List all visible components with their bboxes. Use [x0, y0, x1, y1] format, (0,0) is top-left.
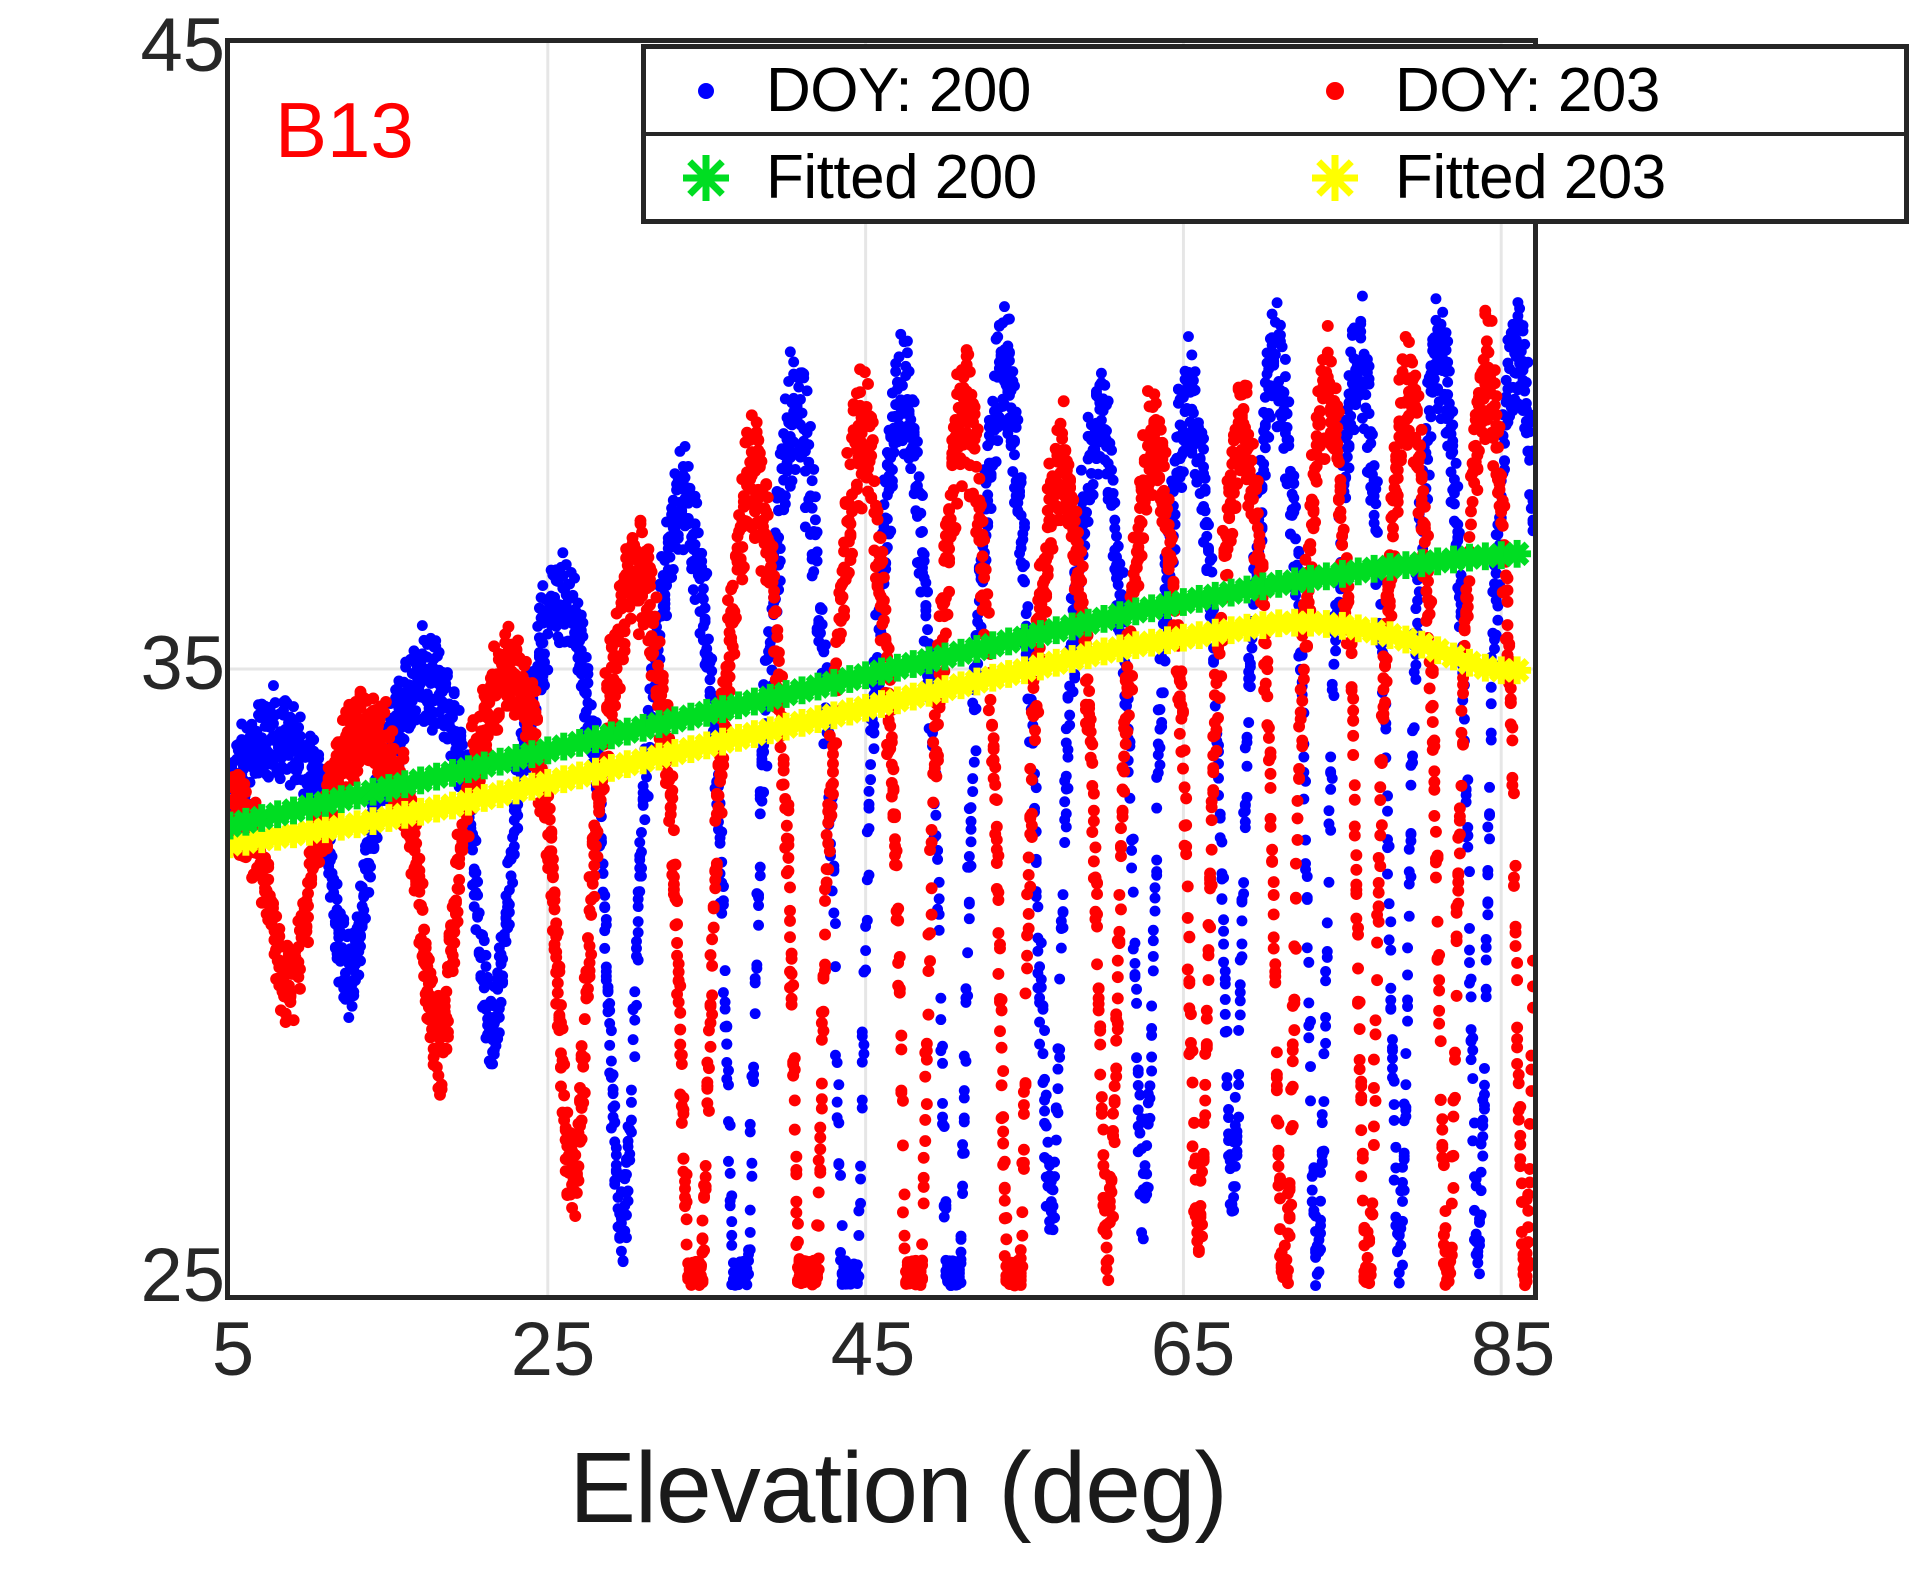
plot-canvas: [230, 43, 1533, 1295]
legend-label-doy-203: DOY: 203: [1395, 55, 1660, 126]
legend-row-2: Fitted 200 Fitted 203: [646, 136, 1904, 219]
x-tick-label-25: 25: [473, 1306, 633, 1393]
chart-figure: CNR (dB-Hz) Elevation (deg) 45 35 25 5 2…: [0, 0, 1909, 1579]
legend-entry-fitted-203[interactable]: Fitted 203: [1275, 136, 1904, 219]
legend-entry-doy-203[interactable]: DOY: 203: [1275, 49, 1904, 132]
legend-marker-asterisk-green: [646, 151, 766, 205]
legend-label-doy-200: DOY: 200: [766, 55, 1031, 126]
x-tick-label-5: 5: [153, 1306, 313, 1393]
x-axis-label: Elevation (deg): [228, 1428, 1568, 1548]
legend-entry-fitted-200[interactable]: Fitted 200: [646, 136, 1275, 219]
x-tick-label-65: 65: [1113, 1306, 1273, 1393]
legend-label-fitted-203: Fitted 203: [1395, 142, 1666, 213]
x-tick-label-85: 85: [1433, 1306, 1593, 1393]
y-tick-label-45: 45: [105, 2, 225, 89]
panel-label: B13: [275, 91, 414, 169]
x-tick-label-45: 45: [793, 1306, 953, 1393]
legend-row-1: DOY: 200 DOY: 203: [646, 49, 1904, 136]
legend-label-fitted-200: Fitted 200: [766, 142, 1037, 213]
legend-marker-dot-blue: [646, 83, 766, 99]
legend-marker-asterisk-yellow: [1275, 151, 1395, 205]
legend-marker-dot-red: [1275, 82, 1395, 100]
legend-entry-doy-200[interactable]: DOY: 200: [646, 49, 1275, 132]
plot-area: B13: [225, 38, 1538, 1300]
scatter-doy-203: [230, 305, 1533, 1292]
legend[interactable]: DOY: 200 DOY: 203 Fitted 200: [641, 44, 1909, 224]
y-tick-label-35: 35: [105, 620, 225, 707]
